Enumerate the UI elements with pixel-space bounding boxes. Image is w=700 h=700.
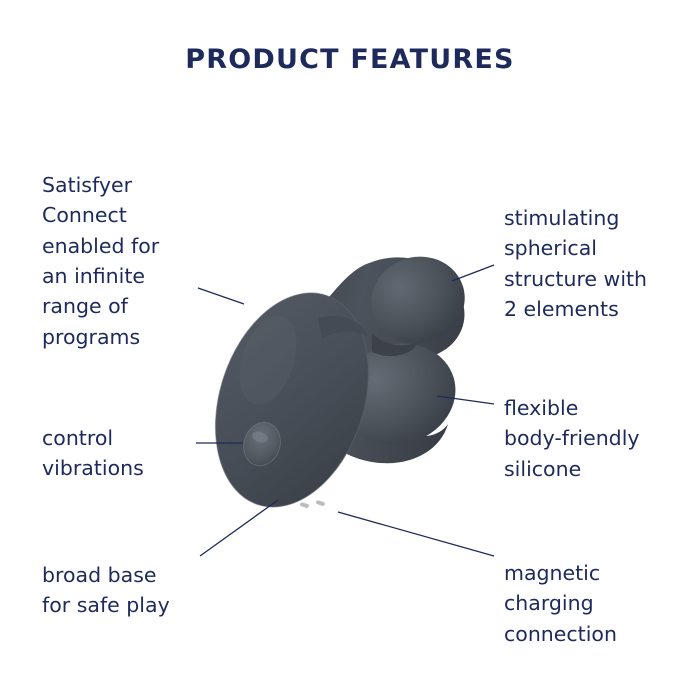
- charging-contacts: [300, 500, 326, 509]
- callout-control: control vibrations: [42, 423, 222, 484]
- leader-line-broad-base: [200, 500, 278, 556]
- product-shape: [190, 246, 475, 527]
- callout-connect: Satisfyer Connect enabled for an infinit…: [42, 170, 212, 352]
- product-features-diagram: PRODUCT FEATURES: [0, 0, 700, 700]
- callout-magnetic: magnetic charging connection: [504, 558, 684, 649]
- leader-line-magnetic: [338, 512, 494, 556]
- leader-line-stimulating: [452, 265, 494, 281]
- callout-flexible: flexible body-friendly silicone: [504, 393, 689, 484]
- callout-broad-base: broad base for safe play: [42, 560, 242, 621]
- callout-stimulating: stimulating spherical structure with 2 e…: [504, 203, 684, 324]
